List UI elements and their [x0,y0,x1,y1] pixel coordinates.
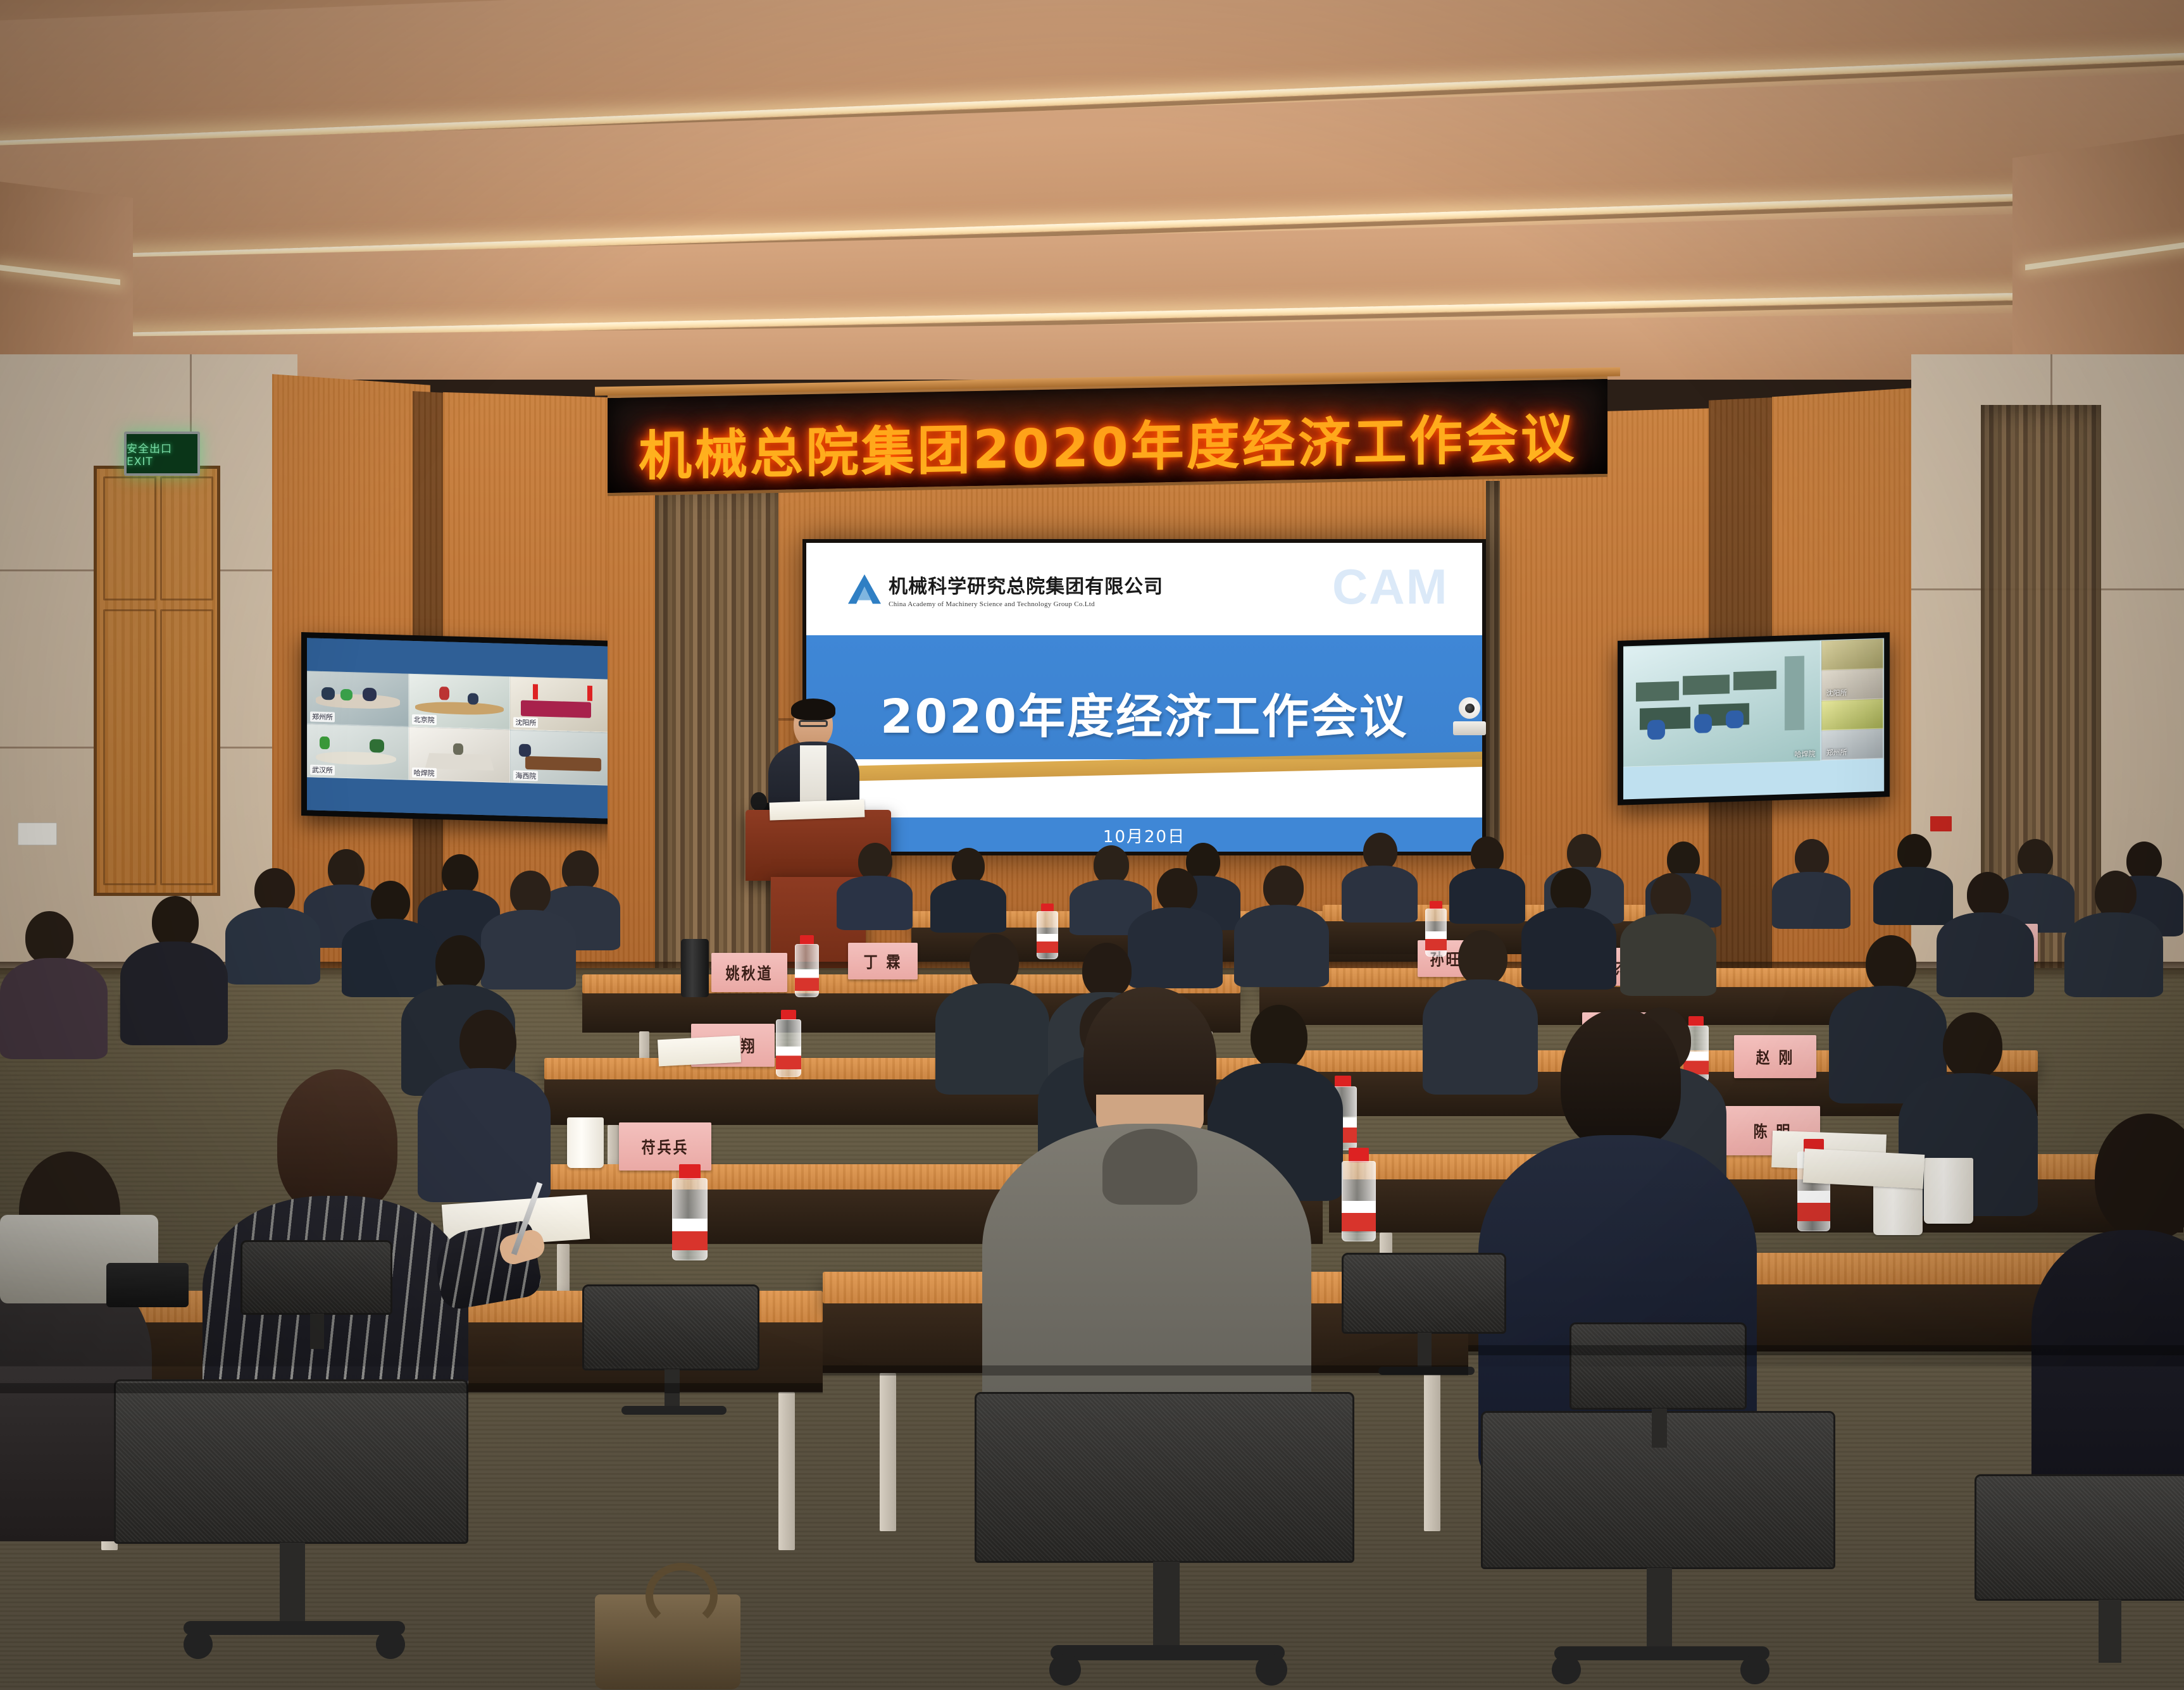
desk-shadow [1468,1345,2184,1355]
notepad [658,1036,741,1067]
company-name-en: China Academy of Machinery Science and T… [889,600,1163,608]
fire-alarm-right[interactable] [1930,816,1952,831]
paper-cup [567,1117,604,1168]
name-placard: 丁 霖 [848,943,918,979]
office-chair[interactable] [1569,1322,1747,1468]
name-placard: 苻兵兵 [619,1122,711,1171]
handbag-strap [646,1563,718,1629]
tile-label: 哈焊院 [412,767,437,778]
attendee [0,911,108,1057]
door-left[interactable] [94,466,220,896]
attendee [1342,833,1418,917]
attendee [225,868,320,982]
attendee [2064,871,2163,996]
attendee [1937,872,2034,996]
tile-label: 沈阳所 [513,717,538,728]
thermos-flask [681,939,709,997]
attendee [837,843,913,925]
desk-shadow [823,1365,1468,1376]
tile-label: 北京院 [412,714,437,725]
ptz-conference-camera [1453,697,1486,735]
office-chair[interactable] [582,1284,759,1430]
logo-mountain-icon [847,573,882,606]
office-chair[interactable] [114,1379,468,1677]
office-chair[interactable] [1975,1474,2184,1690]
laptop-case [106,1263,189,1307]
company-name-cn: 机械科学研究总院集团有限公司 [889,571,1163,599]
paper-cup [1924,1158,1973,1224]
tile-label-main: 哈焊院 [1793,749,1818,759]
water-bottle [795,935,819,997]
tile-label: 海西院 [513,771,538,781]
conference-room-photo: 安全出口 EXIT 郑州所 北京院 [0,0,2184,1690]
attendee [930,848,1006,929]
water-bottle [1342,1148,1376,1241]
projection-screen[interactable]: CAM 机械科学研究总院集团有限公司 China Academy of Mach… [802,539,1486,855]
attendee [120,896,228,1044]
podium-documents [770,799,865,820]
attendee [1449,836,1525,920]
slide-watermark: CAM [1332,558,1449,616]
attendee [1234,866,1329,986]
name-placard-text: 赵 刚 [1756,1045,1795,1069]
water-bottle [776,1010,801,1077]
exit-sign-label: 安全出口 EXIT [127,440,197,468]
microphone-head-icon [751,792,767,811]
tile-label: 武汉所 [310,765,335,776]
office-chair[interactable] [975,1392,1354,1689]
tile-label: 沈阳所 [1825,687,1849,698]
exit-sign: 安全出口 EXIT [124,432,200,476]
presentation-slide: CAM 机械科学研究总院集团有限公司 China Academy of Mach… [806,543,1482,852]
desk-shadow [0,1383,823,1393]
glasses-icon [799,720,828,727]
name-placard-text: 苻兵兵 [641,1135,689,1159]
attendee [1772,839,1850,924]
led-banner-text: 机械总院集团2020年度经济工作会议 [608,395,1607,491]
tile-label: 郑州所 [310,711,335,722]
right-video-wall[interactable]: 哈焊院 沈阳所 郑州所 [1618,632,1890,805]
ceiling [0,0,2184,380]
slide-title: 2020年度经济工作会议 [806,679,1482,747]
water-bottle [672,1164,708,1260]
name-placard-text: 丁 霖 [864,950,902,973]
notepad [1803,1148,1925,1189]
attendee [1620,873,1716,995]
left-video-wall[interactable]: 郑州所 北京院 沈阳所 武汉所 [301,632,618,824]
name-placard-text: 姚秋道 [725,961,773,985]
tile-label: 郑州所 [1825,747,1849,757]
name-placard: 姚秋道 [711,953,787,992]
company-logo: 机械科学研究总院集团有限公司 China Academy of Machiner… [847,571,1163,608]
office-chair[interactable] [240,1240,392,1367]
attendee-foreground-right-edge [2031,1114,2184,1506]
wall-outlet-left[interactable] [18,823,57,845]
